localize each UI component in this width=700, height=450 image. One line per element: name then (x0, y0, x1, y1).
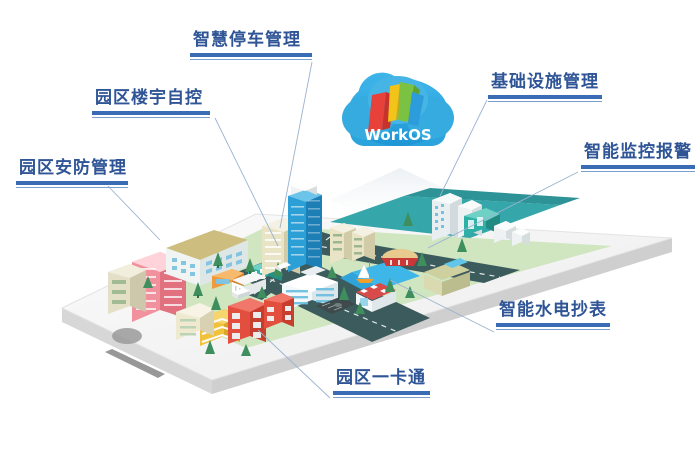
callout-label-text: 园区楼宇自控 (92, 88, 210, 109)
workos-cloud-logo: WorkOS (342, 73, 454, 146)
callout-underline-bar (16, 181, 128, 185)
building-tower-blue (288, 181, 322, 272)
callout-label-text: 智慧停车管理 (190, 30, 312, 51)
workos-wordmark: WorkOS (364, 126, 431, 144)
callout-label-text: 智能水电抄表 (496, 300, 610, 321)
callout-underline-thin (16, 187, 128, 188)
callout-underline-bar (333, 391, 430, 395)
callout-underline-thin (190, 59, 312, 60)
callout-one-card-system[interactable]: 园区一卡通 (333, 368, 430, 398)
callout-underline-bar (496, 323, 610, 327)
callout-park-security[interactable]: 园区安防管理 (16, 158, 128, 188)
callout-label-text: 园区安防管理 (16, 158, 128, 179)
callout-utility-metering[interactable]: 智能水电抄表 (496, 300, 610, 330)
callout-building-automation[interactable]: 园区楼宇自控 (92, 88, 210, 118)
diagram-canvas: WorkOS 园区安防管理 园区楼宇自控 智慧停车管理 基础设施管理 智能监控报… (0, 0, 700, 450)
callout-underline-thin (488, 101, 602, 102)
callout-label-text: 基础设施管理 (488, 72, 602, 93)
building-beige-left (108, 264, 146, 314)
callout-underline-thin (333, 397, 430, 398)
callout-underline-thin (92, 117, 210, 118)
callout-underline-thin (581, 171, 695, 172)
callout-infrastructure[interactable]: 基础设施管理 (488, 72, 602, 102)
callout-video-surveillance-alarm[interactable]: 智能监控报警 (581, 142, 695, 172)
callout-underline-bar (92, 111, 210, 115)
callout-label-text: 智能监控报警 (581, 142, 695, 163)
callout-underline-bar (190, 53, 312, 57)
callout-label-text: 园区一卡通 (333, 368, 430, 389)
callout-underline-bar (488, 95, 602, 99)
callout-underline-bar (581, 165, 695, 169)
callout-smart-parking[interactable]: 智慧停车管理 (190, 30, 312, 60)
callout-underline-thin (496, 329, 610, 330)
